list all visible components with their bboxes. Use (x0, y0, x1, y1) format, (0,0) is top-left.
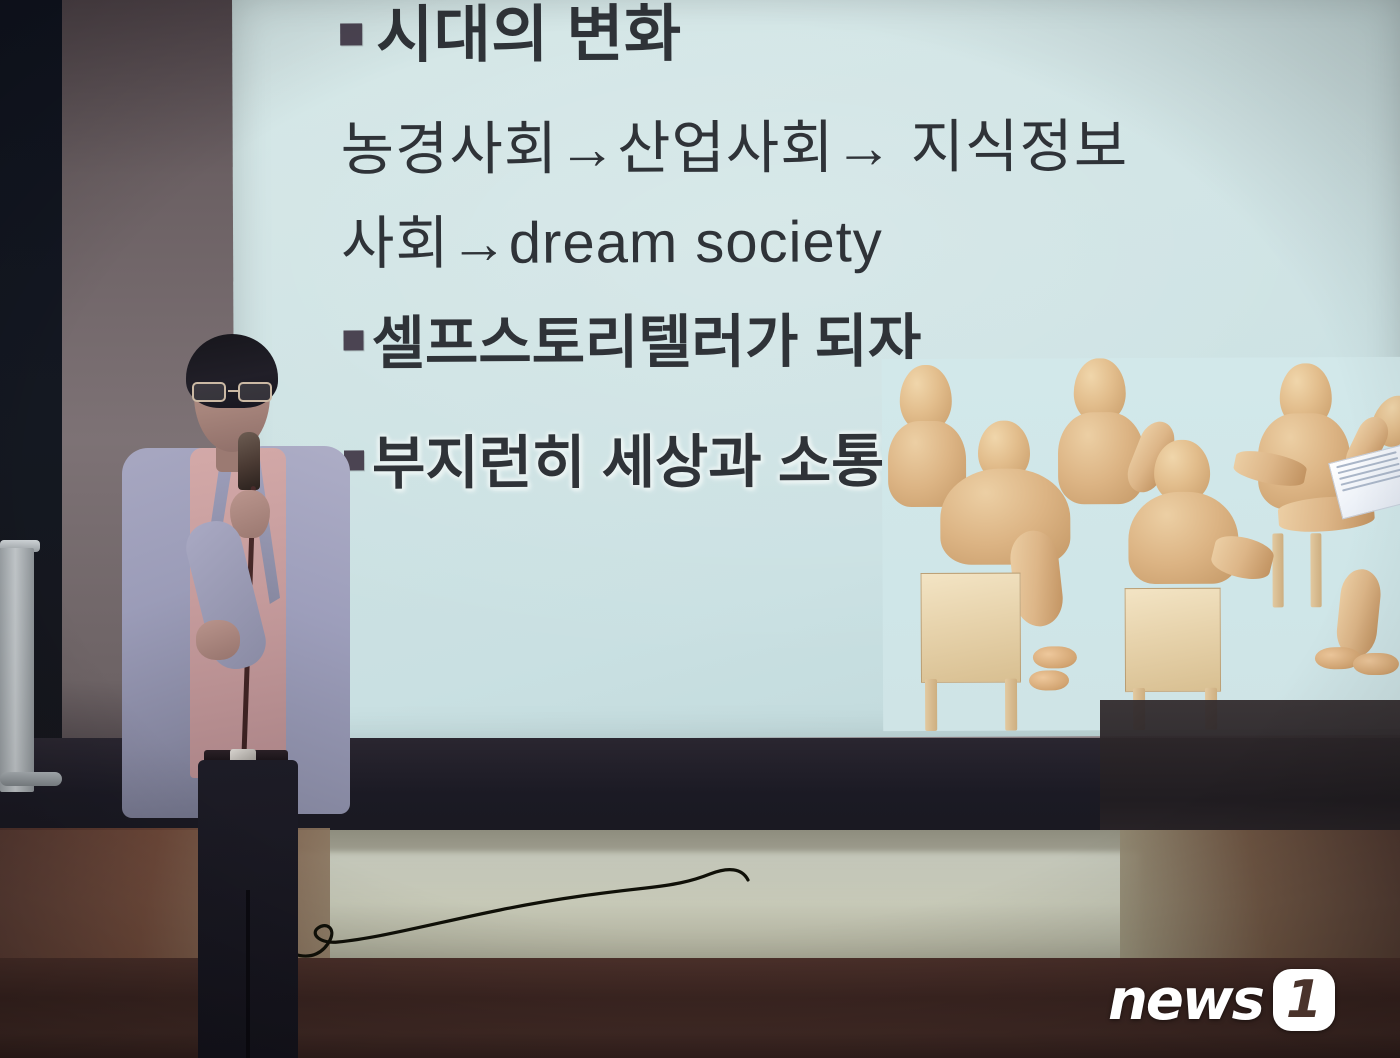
microphone-cable-icon (290, 866, 950, 958)
slide-image-mannequins (882, 357, 1400, 731)
slide-line-body1: 농경사회→산업사회→ 지식정보 (341, 118, 1129, 179)
microphone-icon (238, 432, 260, 490)
eyeglasses-icon (190, 382, 276, 402)
slide-line-bullet2: 셀프스토리텔러가 되자 (343, 313, 921, 374)
stage-floor-right-shadow (1120, 830, 1400, 970)
watermark-badge: 1 (1273, 969, 1335, 1031)
projection-screen: 시대의 변화 농경사회→산업사회→ 지식정보 사회→dream society … (232, 0, 1400, 746)
speaker-figure (112, 330, 352, 990)
slide-title-text: 시대의 변화 (376, 0, 682, 70)
podium-stand (0, 548, 34, 792)
slide-line-title: 시대의 변화 (340, 4, 682, 67)
photo-canvas: 시대의 변화 농경사회→산업사회→ 지식정보 사회→dream society … (0, 0, 1400, 1058)
slide-body1-text: 농경사회→산업사회→ 지식정보 (341, 114, 1129, 182)
slide-bullet2-text: 셀프스토리텔러가 되자 (371, 309, 921, 376)
watermark-brand-text: news (1108, 968, 1263, 1033)
watermark-badge-text: 1 (1286, 974, 1322, 1026)
bullet-square-icon (340, 23, 362, 45)
trouser-leg-seam (246, 890, 250, 1058)
left-hand (196, 620, 240, 660)
slide-line-body2: 사회→dream society (341, 213, 883, 273)
podium-arm (0, 772, 62, 786)
news1-watermark: news 1 (1108, 962, 1335, 1038)
slide-body2-text: 사회→dream society (341, 209, 883, 276)
presentation-slide: 시대의 변화 농경사회→산업사회→ 지식정보 사회→dream society … (232, 0, 1400, 746)
